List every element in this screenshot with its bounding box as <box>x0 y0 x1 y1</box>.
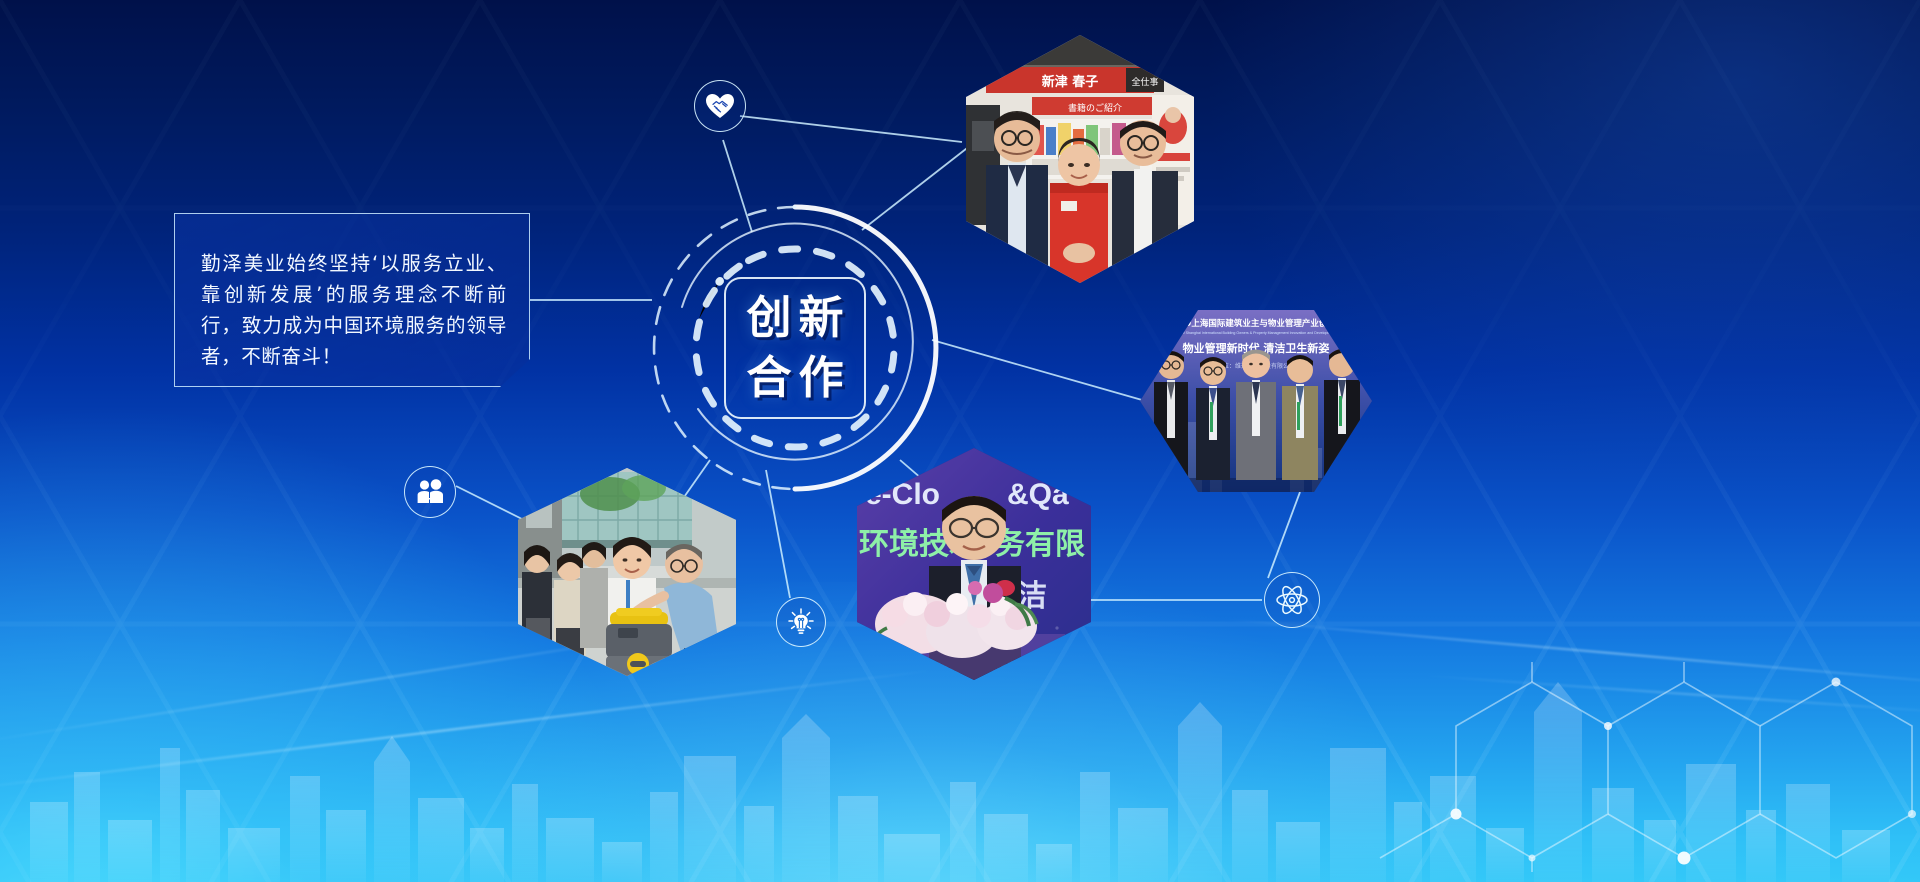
photo-training[interactable] <box>518 468 736 676</box>
photo-image-conference: 2019上海国际建筑业主与物业管理产业创新发 2019 Shanghai Int… <box>1140 310 1372 492</box>
photo-conference-group[interactable]: 2019上海国际建筑业主与物业管理产业创新发 2019 Shanghai Int… <box>1140 310 1372 492</box>
photo-image-bookstore: 新津 春子 全仕事 書籍のご紹介 <box>966 35 1194 283</box>
lightbulb-icon <box>786 607 816 637</box>
svg-text:全仕事: 全仕事 <box>1131 76 1158 88</box>
node-handshake[interactable] <box>694 80 746 132</box>
quote-box: 勤泽美业始终坚持‘以服务立业、靠创新发展’的服务理念不断前行，致力成为中国环境服… <box>174 213 530 387</box>
svg-text:新津 春子: 新津 春子 <box>1042 74 1099 90</box>
node-people[interactable] <box>404 466 456 518</box>
banner-stage: 勤泽美业始终坚持‘以服务立业、靠创新发展’的服务理念不断前行，致力成为中国环境服… <box>0 0 1920 882</box>
svg-text:書籍のご紹介: 書籍のご紹介 <box>1068 102 1122 114</box>
svg-text:2019 Shanghai International Bu: 2019 Shanghai International Building Own… <box>1177 331 1336 335</box>
photo-bookstore[interactable]: 新津 春子 全仕事 書籍のご紹介 <box>966 35 1194 283</box>
hex-clip: 2019上海国际建筑业主与物业管理产业创新发 2019 Shanghai Int… <box>1140 310 1372 492</box>
atom-icon <box>1275 583 1309 617</box>
two-people-icon <box>415 479 445 505</box>
node-atom[interactable] <box>1264 572 1320 628</box>
svg-text:务有限: 务有限 <box>995 527 1085 562</box>
handshake-heart-icon <box>705 92 735 120</box>
quote-connector-line <box>530 299 652 301</box>
photo-speaker[interactable]: e-Clo &Qa 环境技术 务有限 洁 服务业联盟系列活 <box>857 448 1091 680</box>
svg-text:2019上海国际建筑业主与物业管理产业创新发: 2019上海国际建筑业主与物业管理产业创新发 <box>1168 318 1345 329</box>
hex-clip <box>518 468 736 676</box>
svg-text:&Qa: &Qa <box>1007 478 1069 511</box>
node-idea[interactable] <box>776 597 826 647</box>
photo-image-training <box>518 468 736 676</box>
hexagon-network-pattern <box>1360 662 1920 882</box>
quote-text: 勤泽美业始终坚持‘以服务立业、靠创新发展’的服务理念不断前行，致力成为中国环境服… <box>175 214 529 386</box>
svg-text:e-Clo: e-Clo <box>865 478 940 511</box>
hex-clip: 新津 春子 全仕事 書籍のご紹介 <box>966 35 1194 283</box>
hex-clip: e-Clo &Qa 环境技术 务有限 洁 服务业联盟系列活 <box>857 448 1091 680</box>
photo-image-speaker: e-Clo &Qa 环境技术 务有限 洁 服务业联盟系列活 <box>857 448 1091 680</box>
